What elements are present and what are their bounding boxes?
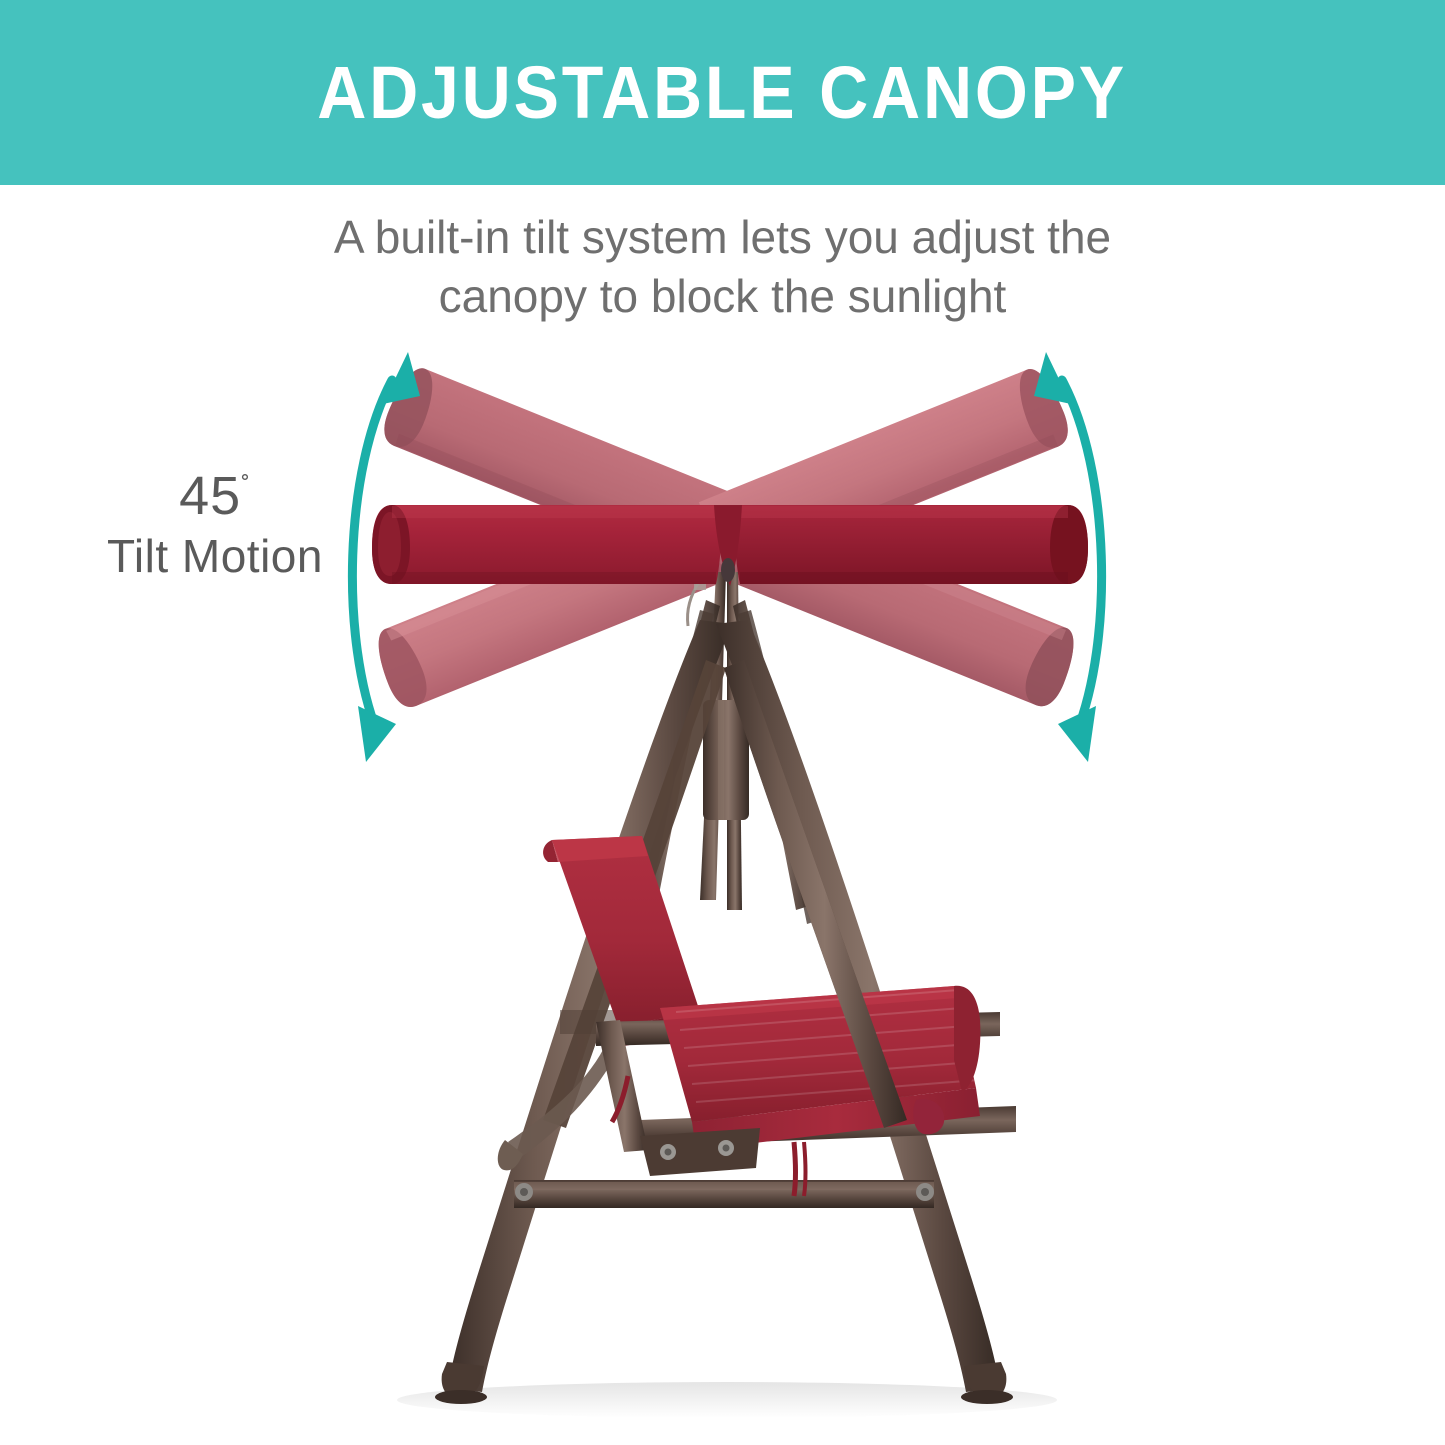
seat-tie-cord-center	[794, 1142, 796, 1196]
seat-cushion	[660, 986, 980, 1150]
arc-left-arrowhead-bottom	[358, 706, 396, 762]
seat-bracket	[640, 1128, 760, 1176]
product-illustration	[0, 0, 1445, 1445]
canopy-pivot-hub	[721, 558, 735, 582]
bottom-crossbar	[514, 1180, 934, 1208]
product-infographic: ADJUSTABLE CANOPY A built-in tilt system…	[0, 0, 1445, 1445]
canopy-level-center	[372, 505, 1088, 586]
arc-right-arrowhead-bottom	[1058, 706, 1096, 762]
ground-shadow	[397, 1382, 1057, 1418]
